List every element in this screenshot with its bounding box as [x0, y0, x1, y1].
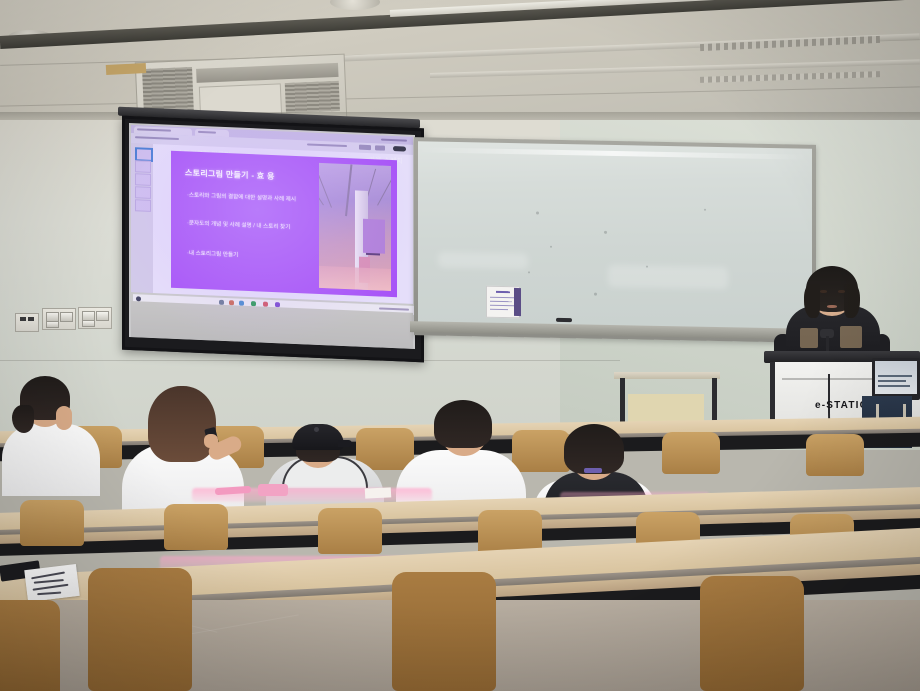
table-leg	[712, 378, 717, 424]
ceiling-duct	[106, 63, 146, 75]
light-switch-panel[interactable]	[42, 308, 76, 330]
whiteboard-dot	[604, 231, 607, 234]
whiteboard-dot	[536, 211, 539, 214]
student-1-ponytail	[12, 405, 34, 433]
card-body-text	[490, 305, 514, 306]
student-1-arm	[56, 406, 72, 430]
ac-vent-grill	[285, 81, 340, 113]
slide-thumbnail[interactable]	[135, 199, 151, 212]
whiteboard-erase-mark	[608, 265, 728, 289]
whiteboard-marker[interactable]	[556, 318, 572, 322]
projection-surface: 스토리그림 만들기 가을 스케치 스토리그림 만들기 - 효 용 ·스토리와 그…	[129, 123, 415, 349]
cap-brim	[338, 440, 352, 447]
whiteboard-dot	[594, 293, 597, 296]
slide-thumbnail[interactable]	[135, 186, 151, 199]
chair	[318, 508, 382, 554]
card-body-text	[490, 309, 508, 310]
switch-button[interactable]	[60, 312, 73, 322]
document-title-text	[307, 143, 347, 147]
account-avatar[interactable]	[393, 146, 406, 152]
tree-branch	[345, 164, 352, 216]
chair	[512, 430, 570, 472]
pink-pencil-case	[258, 484, 288, 496]
system-tray[interactable]	[379, 307, 409, 310]
monitor-text-line	[878, 375, 912, 377]
paper-sheet	[365, 487, 391, 498]
monitor-text-line	[878, 380, 906, 382]
shirt-print	[840, 326, 862, 348]
chair-front-row	[700, 576, 804, 691]
whiteboard-dot	[704, 209, 706, 211]
slide-photo-signpost	[319, 163, 391, 291]
ac-vent	[196, 63, 338, 83]
slide-title: 스토리그림 만들기 - 효 용	[185, 167, 275, 182]
window-controls[interactable]	[381, 139, 407, 142]
whiteboard-glare	[418, 147, 808, 159]
whiteboard-pen[interactable]	[514, 288, 521, 316]
handwriting-line	[34, 579, 64, 583]
card-body-text	[490, 297, 514, 298]
student-1-body	[2, 424, 100, 496]
tree-branch	[377, 176, 391, 206]
handwriting-line	[31, 571, 65, 578]
chair-front-row	[392, 572, 496, 691]
whiteboard-dot	[646, 266, 648, 268]
student-2-hand	[204, 434, 218, 448]
shirt-print	[800, 328, 818, 348]
switch-button[interactable]	[46, 321, 59, 328]
table-leg	[620, 378, 625, 424]
ceiling-vent-right	[700, 71, 880, 83]
chair	[806, 434, 864, 476]
sign-board	[363, 219, 385, 254]
projector-screen: 스토리그림 만들기 가을 스케치 스토리그림 만들기 - 효 용 ·스토리와 그…	[122, 116, 424, 363]
presenter-mouth	[827, 305, 837, 308]
wall-seam	[0, 360, 620, 361]
lecture-hall-photo: 스토리그림 만들기 가을 스케치 스토리그림 만들기 - 효 용 ·스토리와 그…	[0, 0, 920, 691]
presenter-eye	[838, 290, 845, 293]
slide-thumbnail[interactable]	[135, 173, 151, 186]
switch-button[interactable]	[82, 320, 95, 327]
browser-window: 스토리그림 만들기 가을 스케치 스토리그림 만들기 - 효 용 ·스토리와 그…	[131, 125, 413, 304]
slide-bullet-3: ·내 스토리그림 만들기	[187, 249, 307, 262]
presenter-eye	[820, 290, 827, 293]
whiteboard-surface	[418, 141, 812, 339]
chair-front-row	[88, 568, 192, 691]
table-modesty-panel	[628, 394, 704, 423]
slide-bullet-2: ·문자도의 개념 및 사례 설명 / 내 스토리 찾기	[187, 219, 307, 232]
switch-button[interactable]	[96, 311, 109, 321]
switch-toggle[interactable]	[20, 317, 26, 321]
whiteboard-dot	[528, 271, 530, 273]
presenter-hair-right	[844, 284, 860, 318]
student-2-hair	[148, 386, 216, 462]
slide-editing-stage: 스토리그림 만들기 가을 스케치 스토리그림 만들기 - 효 용 ·스토리와 그…	[153, 144, 413, 304]
slide-thumbnail-panel[interactable]	[131, 143, 153, 293]
light-switch-panel[interactable]	[78, 307, 112, 329]
chair	[20, 500, 84, 546]
slide-bullet-1: ·스토리와 그림의 결합에 대한 설명과 사례 제시	[187, 191, 307, 204]
share-button[interactable]	[359, 145, 371, 151]
present-button[interactable]	[375, 145, 385, 150]
monitor-screen[interactable]	[875, 361, 917, 394]
ground-snow	[319, 266, 391, 291]
light-switch-panel-small[interactable]	[15, 313, 39, 332]
whiteboard-erase-mark	[438, 252, 528, 270]
monitor-text-line	[878, 385, 910, 387]
chair	[164, 504, 228, 550]
current-slide[interactable]: 스토리그림 만들기 - 효 용 ·스토리와 그림의 결합에 대한 설명과 사례 …	[171, 151, 397, 297]
slide-thumbnail[interactable]	[135, 160, 151, 173]
ceiling-spotlight	[330, 0, 380, 10]
side-table	[614, 372, 720, 379]
whiteboard-dot	[550, 246, 552, 248]
student-5-lanyard	[584, 468, 602, 473]
chair	[662, 432, 720, 474]
switch-toggle[interactable]	[28, 317, 34, 321]
cap-button	[314, 427, 319, 432]
sign-arrow	[366, 253, 380, 256]
chair-front-row	[0, 600, 60, 691]
card-body-text	[490, 301, 512, 302]
menu-bar-text	[135, 136, 179, 140]
presenter-hair-left	[804, 284, 820, 318]
student-4-hair	[434, 400, 492, 448]
card-heading-text	[496, 291, 510, 293]
whiteboard	[414, 137, 816, 343]
student-5-hair	[564, 424, 624, 474]
